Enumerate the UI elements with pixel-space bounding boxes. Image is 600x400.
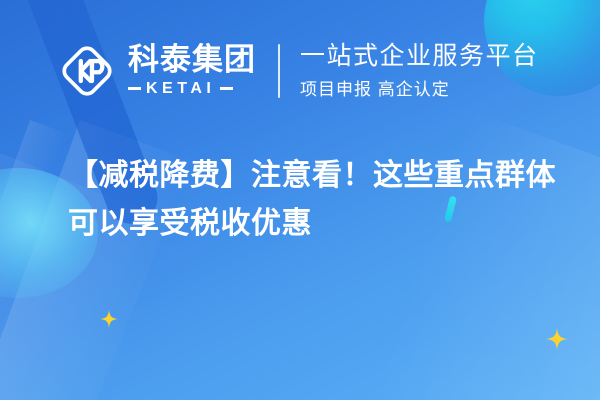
slogan-sub: 项目申报 高企认定 — [300, 75, 539, 100]
slogan-block: 一站式企业服务平台 项目申报 高企认定 — [300, 42, 539, 100]
logo-wordmark: 科泰集团 KETAI — [128, 44, 256, 98]
logo-name-cn: 科泰集团 — [128, 44, 256, 77]
logo-rule-left-icon — [128, 87, 141, 90]
slogan-main: 一站式企业服务平台 — [300, 42, 539, 70]
logo-name-en: KETAI — [146, 80, 215, 98]
banner-header: 科泰集团 KETAI 一站式企业服务平台 项目申报 高企认定 — [56, 33, 539, 109]
logo-name-en-row: KETAI — [128, 80, 256, 98]
diagonal-sheen — [0, 120, 68, 400]
sparkle-star-icon-right — [546, 328, 568, 350]
header-divider — [278, 44, 280, 98]
sparkle-star-icon-left — [100, 310, 118, 328]
promo-banner: 科泰集团 KETAI 一站式企业服务平台 项目申报 高企认定 【减税降费】注意看… — [0, 0, 600, 400]
logo-rule-right-icon — [220, 87, 233, 90]
ketai-monogram-logo-icon — [56, 40, 118, 102]
page-title: 【减税降费】注意看！这些重点群体可以享受税收优惠 — [68, 152, 573, 248]
